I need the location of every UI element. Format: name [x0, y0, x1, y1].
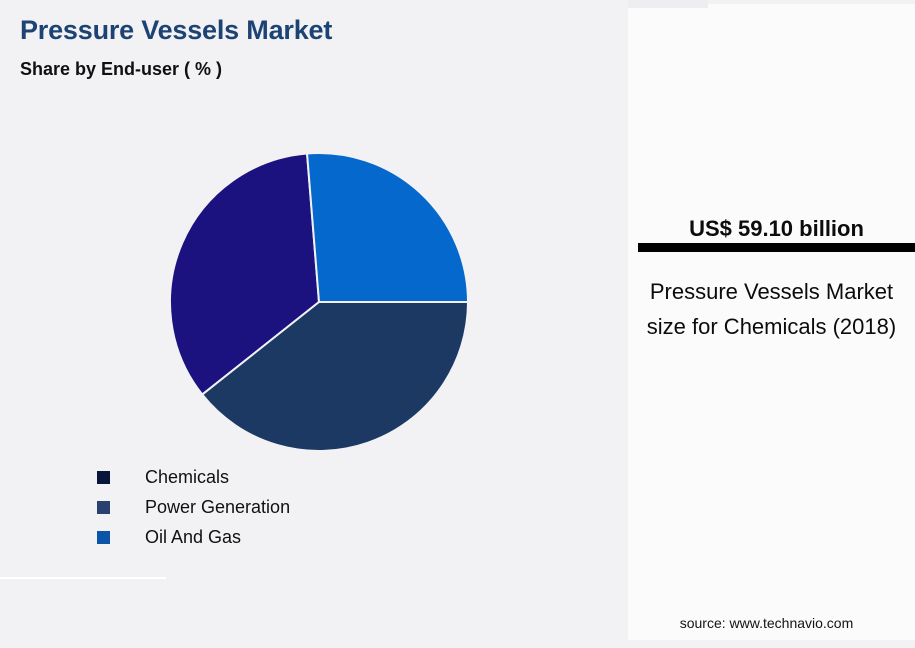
- pie-slice[interactable]: [307, 153, 468, 302]
- chart-subtitle: Share by End-user ( % ): [20, 59, 222, 80]
- chart-container: Pressure Vessels Market Share by End-use…: [0, 0, 915, 648]
- legend-swatch-icon: [97, 501, 110, 514]
- legend-item-label: Chemicals: [145, 467, 229, 488]
- footer-divider: [0, 577, 166, 579]
- legend-item-label: Power Generation: [145, 497, 290, 518]
- chart-legend: Chemicals Power Generation Oil And Gas: [97, 462, 290, 552]
- legend-item-label: Oil And Gas: [145, 527, 241, 548]
- chart-right-panel: US$ 59.10 billion Pressure Vessels Marke…: [628, 0, 915, 648]
- chart-left-panel: Pressure Vessels Market Share by End-use…: [0, 0, 628, 648]
- callout-divider-bar: [638, 243, 915, 252]
- legend-item-chemicals[interactable]: Chemicals: [97, 462, 290, 492]
- source-note: source: www.technavio.com: [628, 615, 905, 631]
- legend-swatch-icon: [97, 531, 110, 544]
- callout-value: US$ 59.10 billion: [638, 216, 915, 242]
- panel-bottom-strip: [628, 640, 915, 648]
- panel-top-strip-secondary: [628, 0, 708, 8]
- page-title: Pressure Vessels Market: [20, 15, 332, 46]
- legend-item-power-generation[interactable]: Power Generation: [97, 492, 290, 522]
- legend-swatch-icon: [97, 471, 110, 484]
- pie-chart-svg: [165, 148, 475, 458]
- callout-description: Pressure Vessels Market size for Chemica…: [642, 274, 901, 344]
- pie-chart: [165, 148, 475, 458]
- legend-item-oil-and-gas[interactable]: Oil And Gas: [97, 522, 290, 552]
